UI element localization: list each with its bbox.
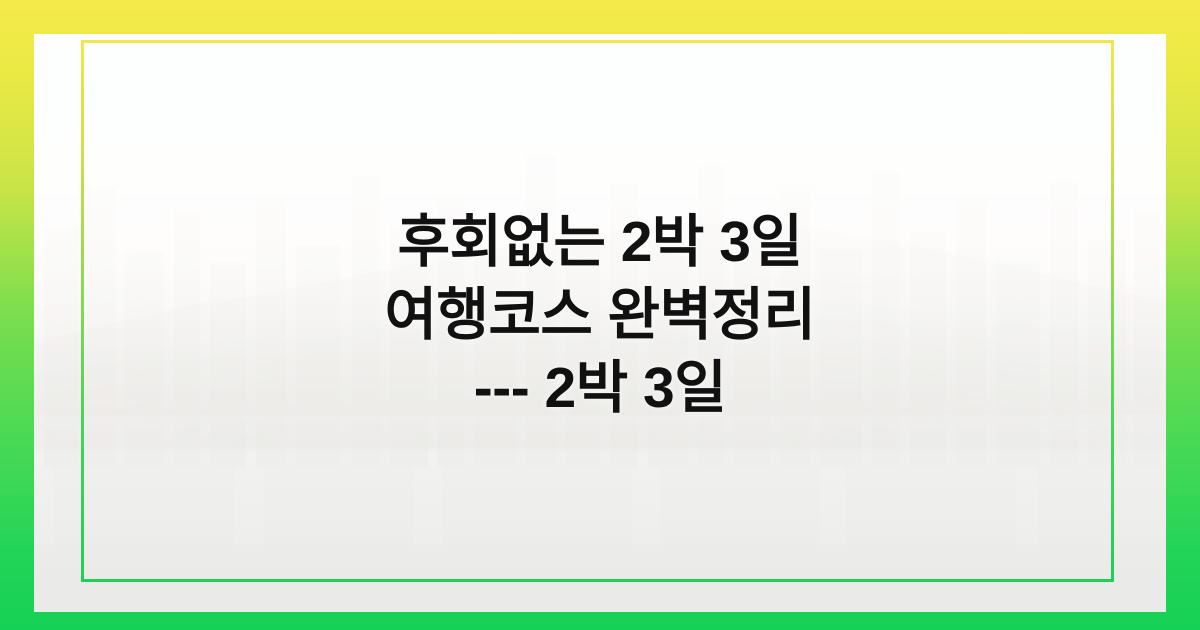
headline-container: 후회없는 2박 3일 여행코스 완벽정리 --- 2박 3일	[0, 0, 1200, 630]
headline-line-3: --- 2박 3일	[385, 352, 816, 425]
page-title: 후회없는 2박 3일 여행코스 완벽정리 --- 2박 3일	[385, 206, 816, 425]
thumbnail-canvas: 후회없는 2박 3일 여행코스 완벽정리 --- 2박 3일	[0, 0, 1200, 630]
headline-line-1: 후회없는 2박 3일	[385, 206, 816, 279]
headline-line-2: 여행코스 완벽정리	[385, 279, 816, 352]
